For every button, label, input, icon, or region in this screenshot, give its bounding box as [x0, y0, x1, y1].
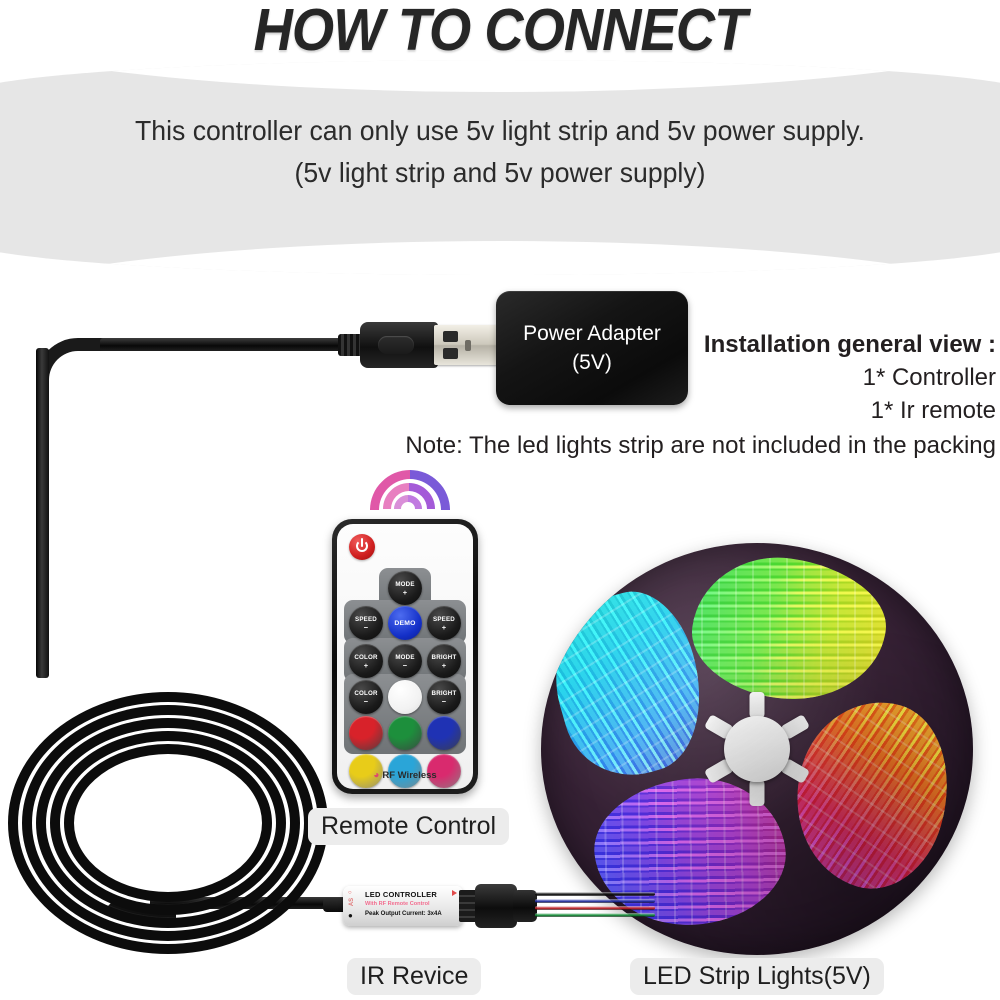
packing-note: Note: The led lights strip are not inclu…	[276, 430, 996, 462]
usb-cable-vertical	[36, 348, 49, 678]
in-icon: AS	[349, 898, 355, 906]
rf-wireless-label: RF Wireless	[382, 770, 436, 781]
color-button-blue[interactable]	[427, 716, 461, 750]
remote-footer: ◕RF Wireless	[337, 770, 473, 781]
out-icon: ○	[348, 890, 352, 896]
wire-green	[535, 913, 655, 917]
button-bright-plus[interactable]: BRIGHT +	[427, 644, 461, 678]
button-demo-label: DEMO	[394, 620, 415, 627]
button-mode-plus-label: MODE	[395, 581, 414, 588]
button-bright-minus-label: BRIGHT	[432, 690, 457, 697]
button-speed-plus[interactable]: SPEED +	[427, 606, 461, 640]
controller-body: ○ AS ● LED CONTROLLER With RF Remote Con…	[343, 886, 463, 926]
button-demo[interactable]: DEMO	[388, 606, 422, 640]
reel-window-green	[684, 546, 894, 711]
wifi-icon	[366, 466, 436, 516]
page-title: HOW TO CONNECT	[40, 0, 960, 64]
button-speed-minus[interactable]: SPEED −	[349, 606, 383, 640]
button-mode-minus[interactable]: MODE −	[388, 644, 422, 678]
reel-spoke-n	[750, 692, 765, 718]
button-color-minus[interactable]: COLOR −	[349, 680, 383, 714]
controller-text: LED CONTROLLER With RF Remote Control Pe…	[365, 890, 461, 919]
power-adapter-label: Power Adapter (5V)	[523, 319, 661, 377]
caption-remote-control: Remote Control	[308, 808, 509, 845]
button-mode-minus-label: MODE	[395, 654, 414, 661]
wire-blue	[535, 899, 655, 903]
remote-control[interactable]: MODE + SPEED − DEMO SPEED + COLOR +	[332, 519, 478, 794]
subtitle-line-1: This controller can only use 5v light st…	[135, 115, 865, 146]
button-bright-minus-sym: −	[442, 698, 447, 705]
button-color-plus-sym: +	[364, 662, 369, 669]
button-color-plus-label: COLOR	[354, 654, 377, 661]
color-button-red[interactable]	[349, 716, 383, 750]
subtitle-line-2: (5v light strip and 5v power supply)	[25, 152, 975, 194]
usb-metal-shell	[434, 325, 500, 365]
coil-ring-5	[64, 744, 272, 902]
infographic-canvas: HOW TO CONNECT This controller can only …	[0, 0, 1000, 1000]
button-color-plus[interactable]: COLOR +	[349, 644, 383, 678]
wire-red	[535, 906, 655, 910]
rf-wifi-icon: ◕	[373, 770, 379, 781]
usb-contact-mid	[465, 340, 471, 351]
header-subtitle: This controller can only use 5v light st…	[25, 110, 975, 194]
rgb-connector-boot	[513, 890, 537, 922]
ir-controller-module: ○ AS ● LED CONTROLLER With RF Remote Con…	[337, 884, 512, 928]
rgb-wire-harness	[535, 892, 655, 922]
reel-specks-green	[684, 546, 894, 711]
controller-spec: Peak Output Current: 3x4A	[365, 909, 461, 919]
power-adapter-line-1: Power Adapter	[523, 319, 661, 348]
power-icon[interactable]	[349, 534, 375, 560]
button-color-minus-label: COLOR	[354, 690, 377, 697]
controller-title: LED CONTROLLER	[365, 890, 461, 900]
button-speed-minus-sym: −	[364, 624, 369, 631]
button-bright-minus[interactable]: BRIGHT −	[427, 680, 461, 714]
button-color-minus-sym: −	[364, 698, 369, 705]
usb-contact-top	[443, 331, 458, 342]
button-speed-minus-label: SPEED	[355, 616, 377, 623]
usb-connector: ↧	[338, 318, 504, 372]
button-mode-plus-sym: +	[403, 589, 408, 596]
usb-plug-body: ↧	[360, 322, 438, 368]
power-symbol-icon: ●	[348, 911, 353, 920]
rgb-connector-plug	[475, 884, 517, 928]
button-mode-plus[interactable]: MODE +	[388, 571, 422, 605]
button-bright-plus-label: BRIGHT	[432, 654, 457, 661]
usb-trident-icon: ↧	[386, 340, 412, 351]
remote-face: MODE + SPEED − DEMO SPEED + COLOR +	[337, 524, 473, 789]
reel-spoke-s	[750, 780, 765, 806]
usb-contact-bottom	[443, 348, 458, 359]
color-button-green[interactable]	[388, 716, 422, 750]
button-mode-minus-sym: −	[403, 662, 408, 669]
button-speed-plus-label: SPEED	[433, 616, 455, 623]
power-adapter-box: Power Adapter (5V)	[496, 291, 688, 405]
controller-subtitle: With RF Remote Control	[365, 900, 461, 909]
coiled-cable	[6, 690, 316, 940]
usb-cable-horizontal	[100, 338, 350, 351]
wire-black	[535, 892, 655, 896]
caption-led-strip: LED Strip Lights(5V)	[630, 958, 884, 995]
power-adapter-line-2: (5V)	[523, 348, 661, 377]
button-speed-plus-sym: +	[442, 624, 447, 631]
caption-ir-device: IR Revice	[347, 958, 481, 995]
button-bright-plus-sym: +	[442, 662, 447, 669]
reel-hub	[724, 716, 790, 782]
button-white[interactable]	[388, 680, 422, 714]
remote-keypad: MODE + SPEED − DEMO SPEED + COLOR +	[344, 568, 466, 754]
